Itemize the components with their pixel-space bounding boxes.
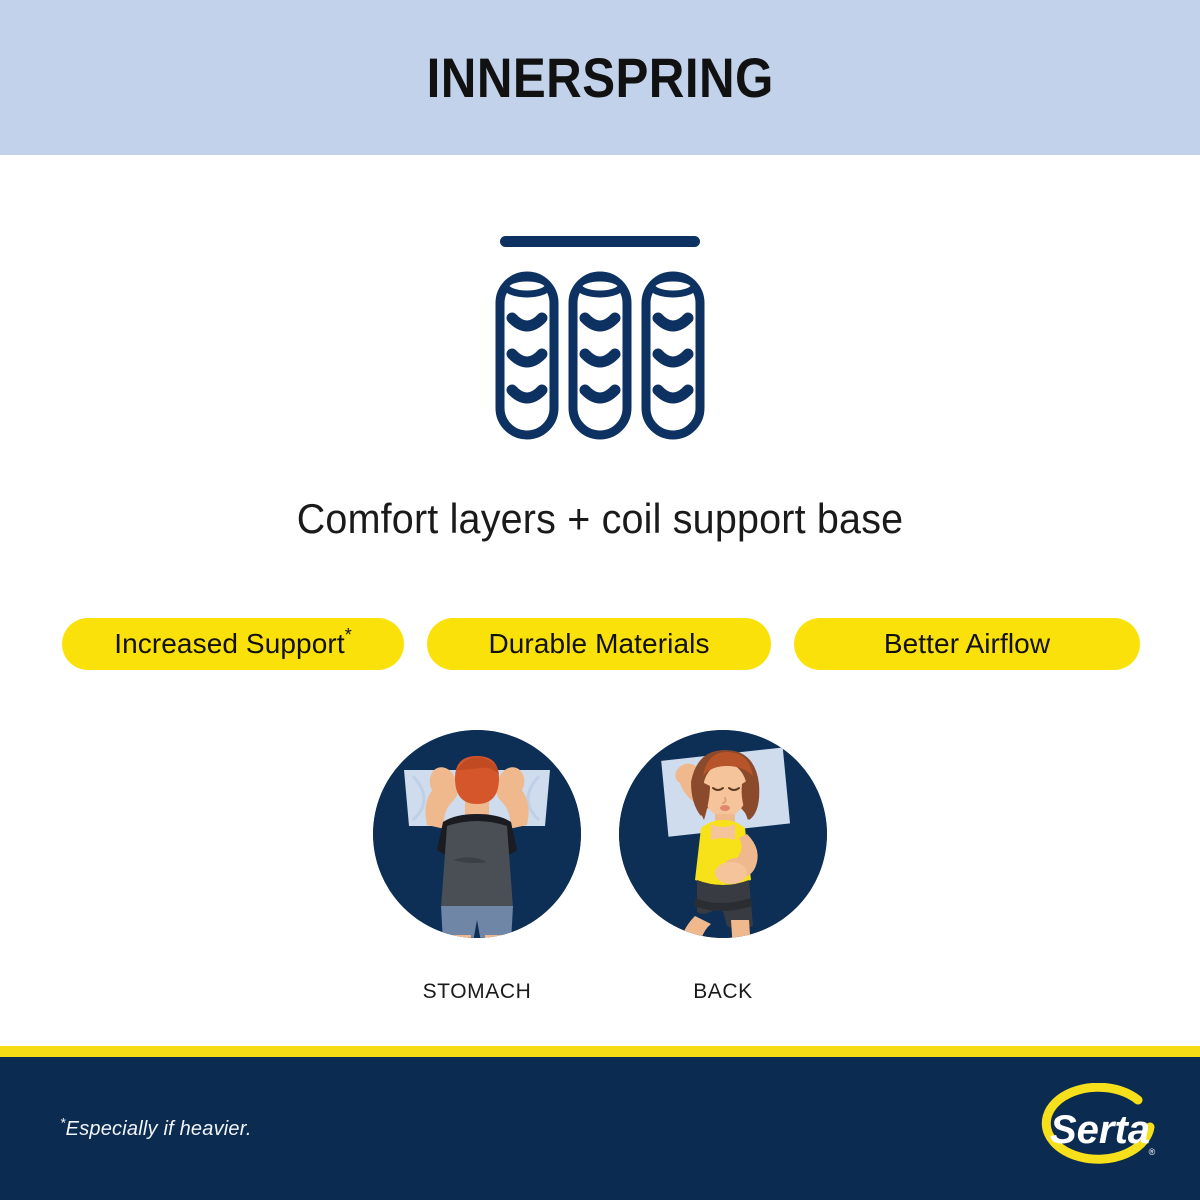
serta-logo[interactable]: Serta ®	[1034, 1083, 1166, 1177]
feature-pill-label: Durable Materials	[488, 628, 709, 660]
footer-accent-stripe	[0, 1046, 1200, 1057]
feature-pill-row: Increased Support* Durable Materials Bet…	[62, 618, 1140, 670]
feature-pill-durable-materials[interactable]: Durable Materials	[427, 618, 771, 670]
page-title: INNERSPRING	[426, 45, 773, 110]
back-sleeper-illustration	[619, 730, 827, 938]
sleep-position-stomach[interactable]: STOMACH	[373, 730, 581, 1004]
innerspring-infographic: INNERSPRING	[0, 0, 1200, 1200]
sleep-position-back[interactable]: BACK	[619, 730, 827, 1004]
feature-pill-label: Increased Support*	[114, 628, 352, 660]
footnote-text: *Especially if heavier.	[60, 1118, 252, 1141]
sleep-position-label: BACK	[693, 980, 753, 1004]
registered-trademark-icon: ®	[1149, 1147, 1156, 1157]
footnote-marker: *	[345, 625, 352, 645]
feature-pill-increased-support[interactable]: Increased Support*	[62, 618, 404, 670]
serta-wordmark: Serta	[1050, 1108, 1150, 1152]
sleep-positions: STOMACH	[0, 730, 1200, 1004]
tagline: Comfort layers + coil support base	[36, 495, 1164, 543]
sleep-position-label: STOMACH	[423, 980, 532, 1004]
feature-pill-label: Better Airflow	[884, 628, 1050, 660]
stomach-sleeper-illustration	[373, 730, 581, 938]
coil-spring-icon	[492, 232, 708, 442]
header-banner: INNERSPRING	[0, 0, 1200, 155]
feature-pill-better-airflow[interactable]: Better Airflow	[794, 618, 1140, 670]
